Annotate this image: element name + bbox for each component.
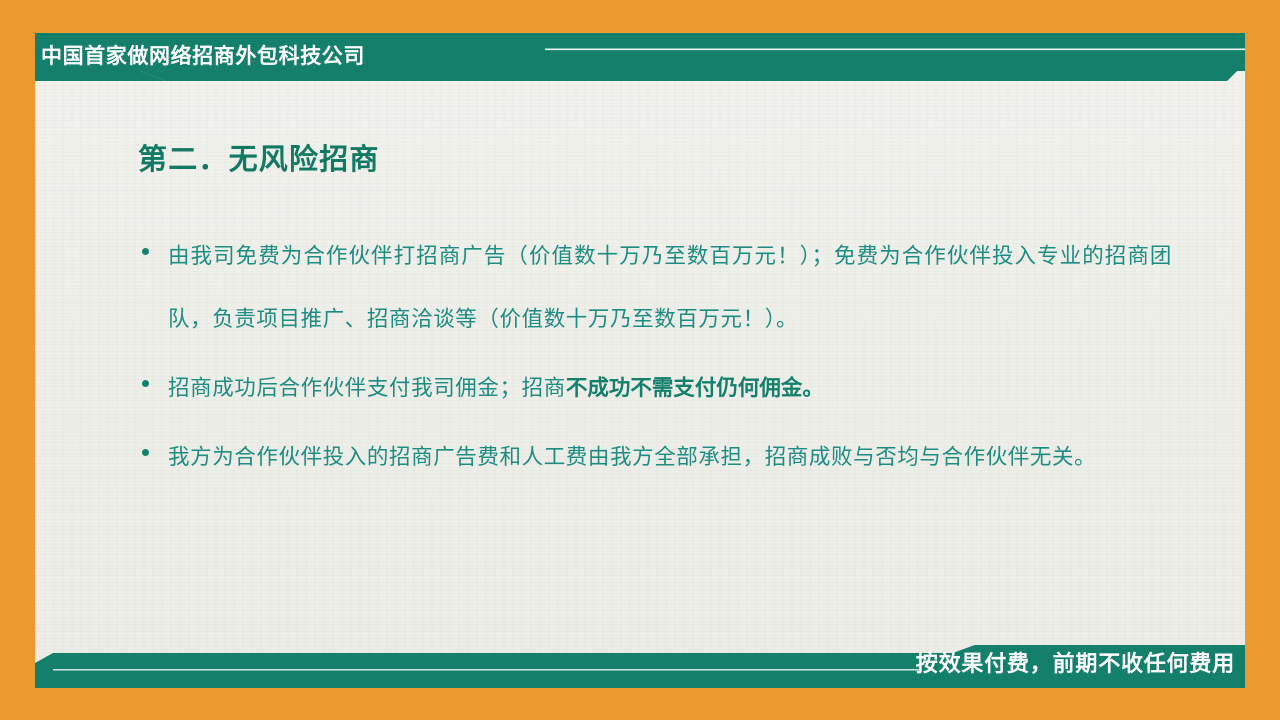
list-item: 由我司免费为合作伙伴打招商广告（价值数十万乃至数百万元！）；免费为合作伙伴投入专… [142,225,1172,351]
text-run: 由我司免费为合作伙伴打招商广告（价值数十万乃至数百万元！）；免费为合作伙伴投入专… [168,244,1172,331]
page-title: 第二．无风险招商 [138,136,380,178]
list-item: 我方为合作伙伴投入的招商广告费和人工费由我方全部承担，招商成败与否均与合作伙伴无… [142,426,1172,489]
slide-canvas: 中国首家做网络招商外包科技公司 第二．无风险招商 由我司免费为合作伙伴打招商广告… [0,0,1280,720]
bullet-list: 由我司免费为合作伙伴打招商广告（价值数十万乃至数百万元！）；免费为合作伙伴投入专… [142,225,1172,495]
bullet-dot-icon [142,426,168,461]
text-run: 我方为合作伙伴投入的招商广告费和人工费由我方全部承担，招商成败与否均与合作伙伴无… [168,445,1096,469]
list-item-text: 由我司免费为合作伙伴打招商广告（价值数十万乃至数百万元！）；免费为合作伙伴投入专… [168,225,1172,351]
bullet-dot-icon [142,225,168,260]
bullet-dot-icon [142,357,168,392]
list-item-text: 招商成功后合作伙伴支付我司佣金；招商不成功不需支付仍何佣金。 [168,357,1172,420]
footer-tagline: 按效果付费，前期不收任何费用 [916,646,1235,678]
text-run: 招商成功后合作伙伴支付我司佣金；招商 [168,376,566,400]
list-item: 招商成功后合作伙伴支付我司佣金；招商不成功不需支付仍何佣金。 [142,357,1172,420]
list-item-text: 我方为合作伙伴投入的招商广告费和人工费由我方全部承担，招商成败与否均与合作伙伴无… [168,426,1172,489]
header-title: 中国首家做网络招商外包科技公司 [41,39,511,71]
text-run-emphasis: 不成功不需支付仍何佣金。 [566,376,824,400]
